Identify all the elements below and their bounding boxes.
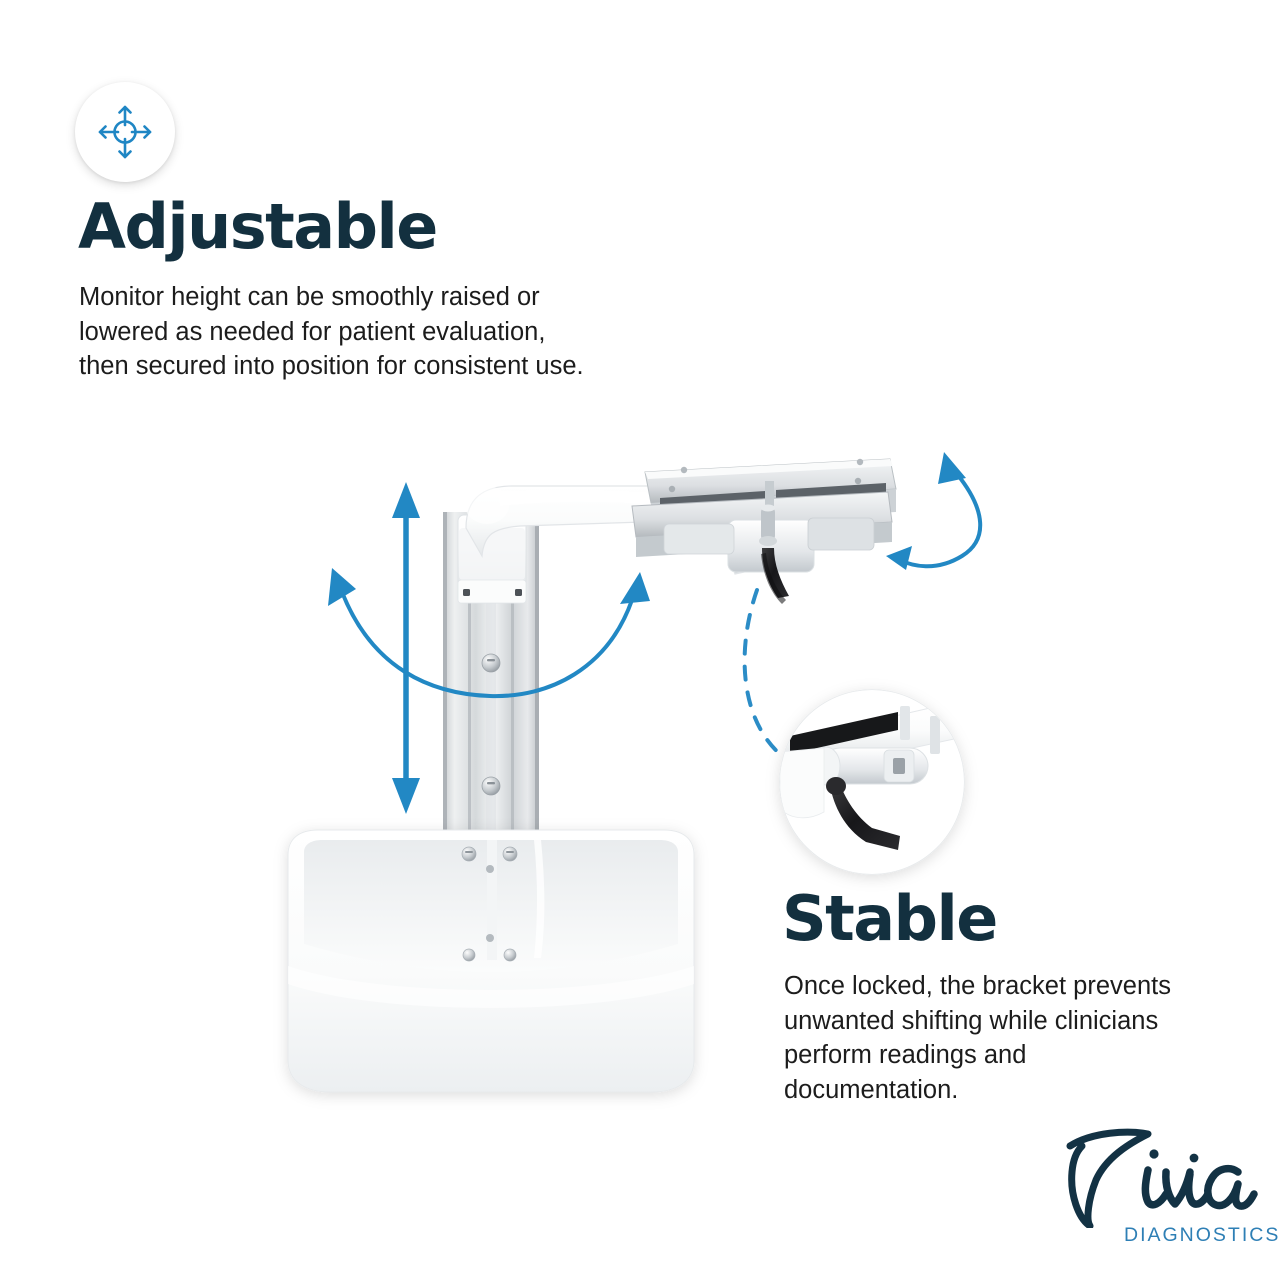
stable-heading: Stable — [782, 888, 997, 950]
stable-body-text: Once locked, the bracket prevents unwant… — [784, 969, 1184, 1108]
logo-subtitle: DIAGNOSTICS — [1124, 1224, 1280, 1247]
vertical-column — [443, 512, 539, 852]
monitor-tilt-curved-arrow — [886, 452, 980, 570]
horizontal-arm — [465, 486, 772, 574]
viva-wordmark — [1062, 1128, 1262, 1228]
vesa-mount-plate — [632, 459, 896, 604]
adjustable-heading: Adjustable — [78, 196, 437, 258]
viva-diagnostics-logo: DIAGNOSTICS — [1062, 1128, 1262, 1256]
locking-lever-closeup — [780, 690, 968, 874]
adjustable-body-text: Monitor height can be smoothly raised or… — [79, 280, 599, 384]
height-adjust-double-arrow — [392, 482, 420, 814]
infographic-page: Adjustable Monitor height can be smoothl… — [0, 0, 1280, 1280]
arm-swivel-curved-arrow — [328, 568, 650, 696]
locking-lever-callout-dashed-line — [745, 590, 782, 756]
four-way-move-icon-glyph — [94, 101, 156, 163]
four-way-move-icon — [75, 82, 175, 182]
pivot-housing — [458, 515, 526, 603]
basket-base — [288, 830, 694, 1092]
